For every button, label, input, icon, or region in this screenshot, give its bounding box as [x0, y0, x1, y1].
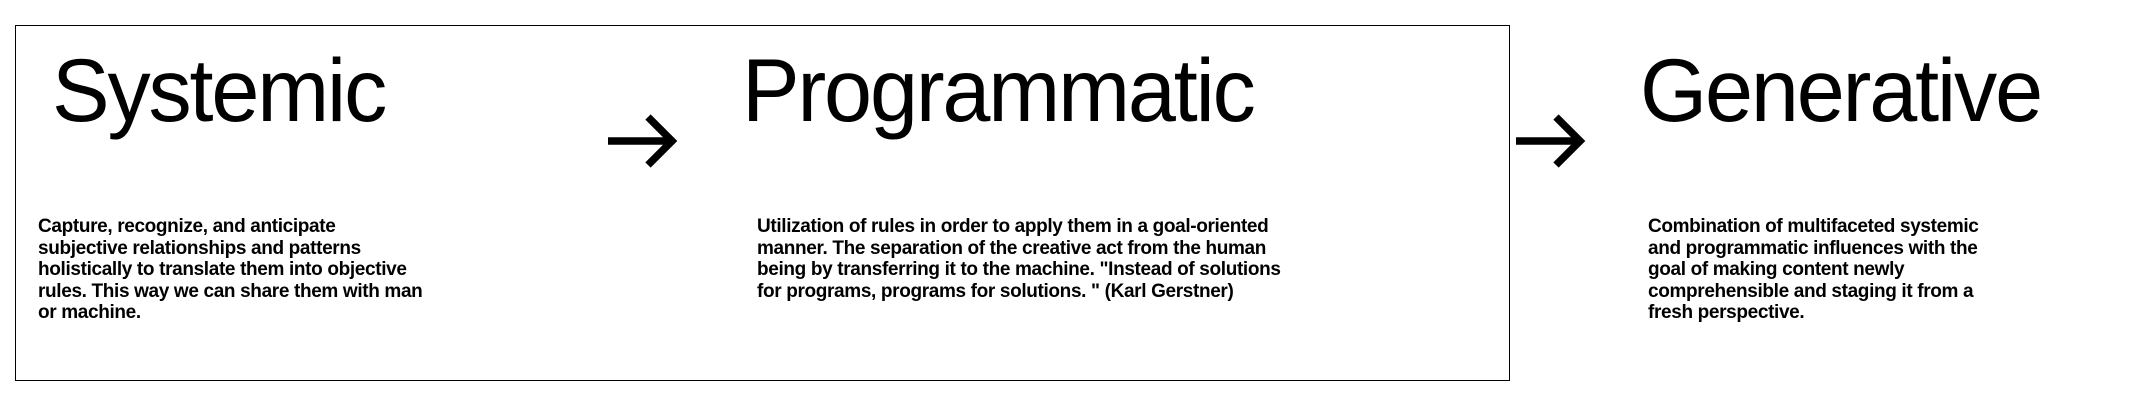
- diagram-canvas: Systemic Capture, recognize, and anticip…: [0, 0, 2146, 412]
- stage-generative-title: Generative: [1640, 42, 2041, 138]
- stage-generative: Generative Combination of multifaceted s…: [1640, 0, 2110, 412]
- stage-programmatic-title: Programmatic: [742, 42, 1254, 138]
- stage-programmatic-description: Utilization of rules in order to apply t…: [757, 216, 1297, 302]
- stage-systemic-description: Capture, recognize, and anticipate subje…: [38, 216, 424, 324]
- arrow-right-icon: [598, 97, 684, 183]
- stage-programmatic: Programmatic Utilization of rules in ord…: [742, 0, 1342, 412]
- arrow-right-icon: [1506, 97, 1592, 183]
- stage-systemic: Systemic Capture, recognize, and anticip…: [52, 0, 452, 412]
- stage-generative-description: Combination of multifaceted systemic and…: [1648, 216, 2008, 324]
- stage-systemic-title: Systemic: [52, 42, 385, 138]
